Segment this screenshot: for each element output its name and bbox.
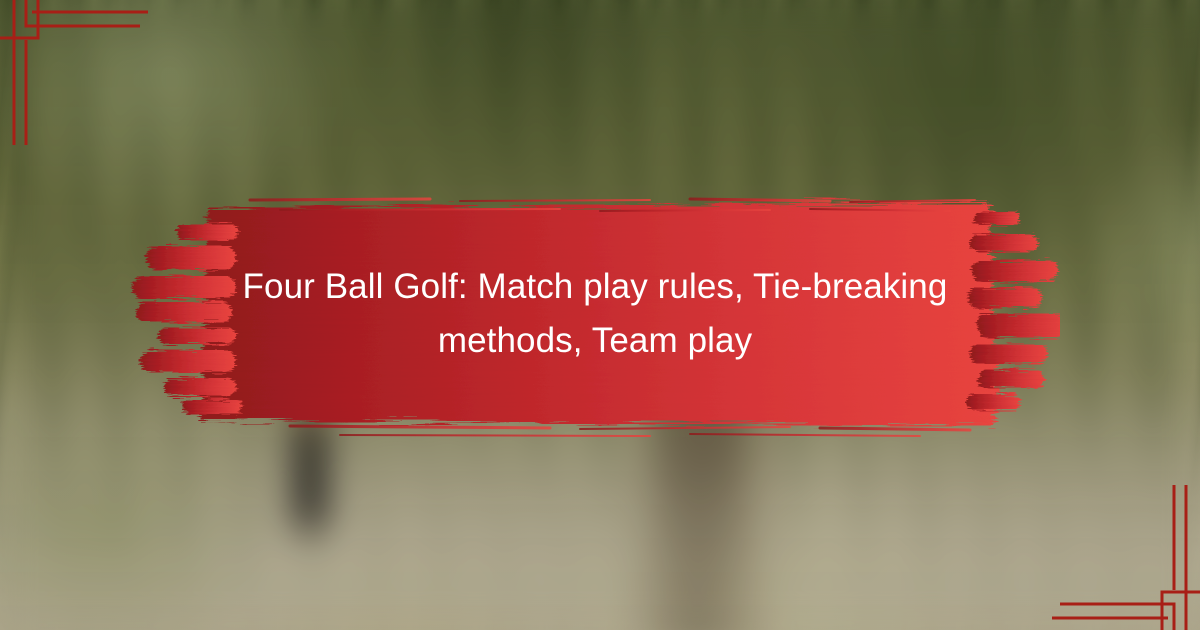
corner-ornament-top-left [0, 0, 160, 160]
corner-ornament-icon [1040, 470, 1200, 630]
page-title: Four Ball Golf: Match play rules, Tie-br… [190, 188, 1000, 440]
page-title-line-1: Four Ball Golf: Match play rules, Tie-br… [243, 260, 948, 314]
corner-ornament-icon [0, 0, 160, 160]
corner-ornament-bottom-right [1040, 470, 1200, 630]
share-card: Four Ball Golf: Match play rules, Tie-br… [0, 0, 1200, 630]
page-title-line-2: methods, Team play [438, 314, 752, 368]
